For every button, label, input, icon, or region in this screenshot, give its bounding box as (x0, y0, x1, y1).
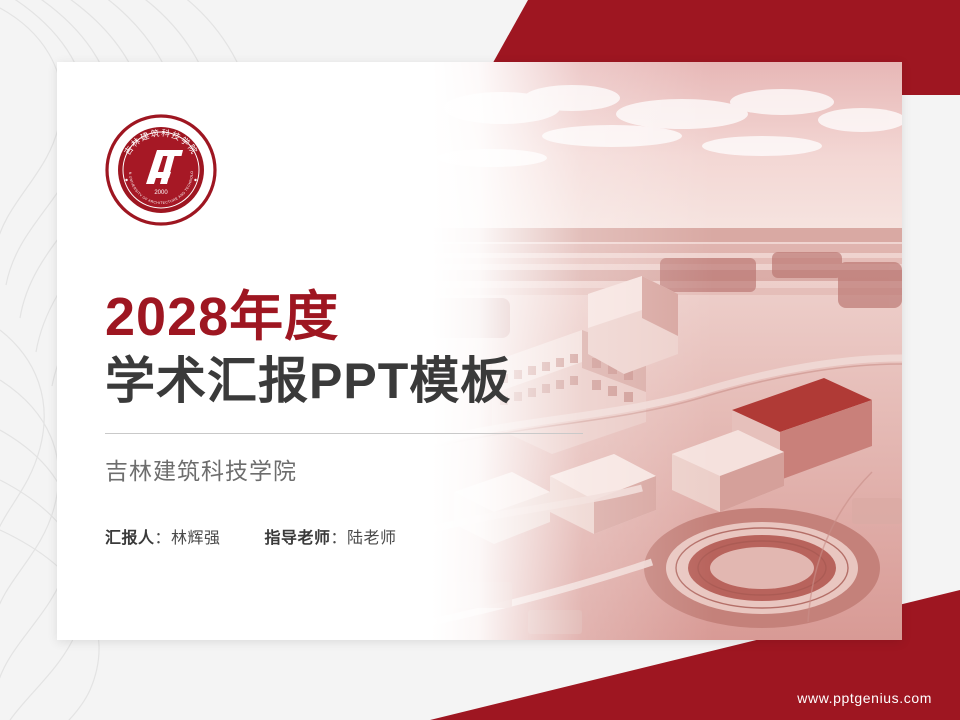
presenter-separator: ： (155, 530, 172, 547)
advisor-separator: ： (330, 530, 347, 547)
title-divider (105, 433, 583, 434)
presenter-name: 林辉强 (171, 530, 221, 547)
university-logo: 吉林建筑科技学院 JILIN UNIVERSITY OF ARCHITECTUR… (105, 114, 217, 226)
credits-line: 汇报人：林辉强 指导老师：陆老师 (105, 524, 625, 548)
advisor-label: 指导老师 (264, 530, 330, 547)
presenter-label: 汇报人 (105, 530, 155, 547)
slide-canvas: 吉林建筑科技学院 JILIN UNIVERSITY OF ARCHITECTUR… (0, 0, 960, 720)
school-name: 吉林建筑科技学院 (105, 452, 625, 486)
title-year: 2028年度 (105, 287, 625, 347)
advisor-name: 陆老师 (347, 530, 397, 547)
title-block: 2028年度 学术汇报PPT模板 吉林建筑科技学院 汇报人：林辉强 指导老师：陆… (105, 287, 625, 548)
title-main: 学术汇报PPT模板 (105, 351, 625, 411)
svg-text:2000: 2000 (154, 190, 168, 196)
content-card: 吉林建筑科技学院 JILIN UNIVERSITY OF ARCHITECTUR… (57, 62, 902, 640)
footer-website-url[interactable]: www.pptgenius.com (797, 690, 932, 706)
